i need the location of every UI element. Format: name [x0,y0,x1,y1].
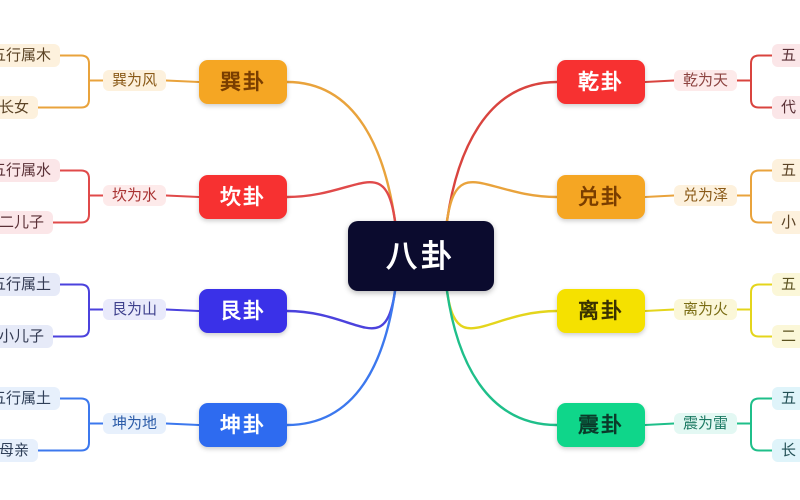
branch-node-label: 震卦 [578,415,624,436]
branch-node-label: 坎卦 [220,187,266,208]
leaf-label-gen-1[interactable]: 五行属土 [0,273,60,296]
mindmap-canvas: 八卦 巽卦巽为风五行属木长女坎卦坎为水五行属水二儿子艮卦艮为山五行属土小儿子坤卦… [0,0,800,500]
branch-node-qian[interactable]: 乾卦 [557,60,645,104]
mid-label-xun[interactable]: 巽为风 [103,70,166,91]
branch-node-gen[interactable]: 艮卦 [199,289,287,333]
leaf-label-dui-1[interactable]: 五 [772,159,800,182]
leaf-label-xun-1[interactable]: 五行属木 [0,44,60,67]
leaf-label-kan-2[interactable]: 二儿子 [0,211,53,234]
branch-node-kun[interactable]: 坤卦 [199,403,287,447]
mid-label-qian[interactable]: 乾为天 [674,70,737,91]
leaf-label-zhen-1[interactable]: 五 [772,387,800,410]
branch-node-xun[interactable]: 巽卦 [199,60,287,104]
branch-node-label: 离卦 [578,301,624,322]
branch-node-label: 兑卦 [578,187,624,208]
mid-label-li[interactable]: 离为火 [674,299,737,320]
branch-node-label: 坤卦 [220,415,266,436]
mid-label-kan[interactable]: 坎为水 [103,185,166,206]
leaf-label-qian-2[interactable]: 代 [772,96,800,119]
leaf-label-qian-1[interactable]: 五 [772,44,800,67]
leaf-label-kun-2[interactable]: 母亲 [0,439,38,462]
leaf-label-dui-2[interactable]: 小 [772,211,800,234]
mid-label-dui[interactable]: 兑为泽 [674,185,737,206]
leaf-label-li-2[interactable]: 二 [772,325,800,348]
leaf-label-kun-1[interactable]: 五行属土 [0,387,60,410]
branch-node-kan[interactable]: 坎卦 [199,175,287,219]
leaf-label-li-1[interactable]: 五 [772,273,800,296]
branch-node-li[interactable]: 离卦 [557,289,645,333]
root-node-label: 八卦 [386,241,456,272]
leaf-label-kan-1[interactable]: 五行属水 [0,159,60,182]
leaf-label-xun-2[interactable]: 长女 [0,96,38,119]
branch-node-label: 艮卦 [220,301,266,322]
leaf-label-zhen-2[interactable]: 长 [772,439,800,462]
branch-node-label: 巽卦 [220,72,266,93]
branch-node-label: 乾卦 [578,72,624,93]
mid-label-gen[interactable]: 艮为山 [103,299,166,320]
branch-node-dui[interactable]: 兑卦 [557,175,645,219]
leaf-label-gen-2[interactable]: 小儿子 [0,325,53,348]
mid-label-kun[interactable]: 坤为地 [103,413,166,434]
mid-label-zhen[interactable]: 震为雷 [674,413,737,434]
branch-node-zhen[interactable]: 震卦 [557,403,645,447]
root-node-bagua[interactable]: 八卦 [348,221,494,291]
